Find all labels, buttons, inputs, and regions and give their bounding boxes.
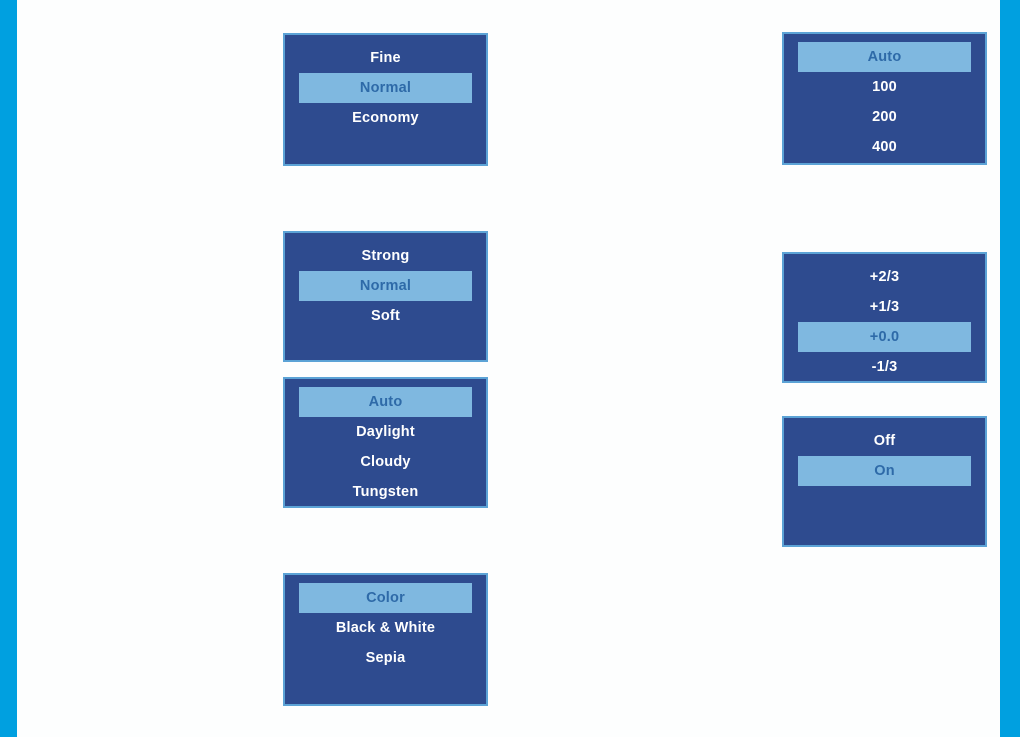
menu-option[interactable]: Off — [784, 426, 985, 456]
color-mode-menu[interactable]: ColorBlack & WhiteSepia — [283, 573, 488, 706]
menu-option-selected[interactable]: Normal — [299, 271, 472, 301]
menu-option-selected[interactable]: Normal — [299, 73, 472, 103]
menu-option[interactable]: Strong — [285, 241, 486, 271]
menu-option[interactable]: +2/3 — [784, 262, 985, 292]
menu-option[interactable]: Economy — [285, 103, 486, 133]
menu-option[interactable]: -1/3 — [784, 352, 985, 382]
menu-option[interactable]: 200 — [784, 102, 985, 132]
menu-option-selected[interactable]: On — [798, 456, 971, 486]
menu-option[interactable]: Soft — [285, 301, 486, 331]
menu-option[interactable]: +1/3 — [784, 292, 985, 322]
menu-option-selected[interactable]: Color — [299, 583, 472, 613]
menu-option[interactable]: Cloudy — [285, 447, 486, 477]
menu-option[interactable]: 400 — [784, 132, 985, 162]
menu-option[interactable]: Sepia — [285, 643, 486, 673]
menu-option-selected[interactable]: Auto — [798, 42, 971, 72]
flash-menu[interactable]: OffOn — [782, 416, 987, 547]
iso-menu[interactable]: Auto100200400 — [782, 32, 987, 165]
page-watermark — [40, 2, 135, 50]
sharpness-menu[interactable]: StrongNormalSoft — [283, 231, 488, 362]
menu-option-selected[interactable]: +0.0 — [798, 322, 971, 352]
menu-option[interactable]: Tungsten — [285, 477, 486, 507]
white-balance-menu[interactable]: AutoDaylightCloudyTungsten — [283, 377, 488, 508]
menu-option[interactable]: Black & White — [285, 613, 486, 643]
menu-option-selected[interactable]: Auto — [299, 387, 472, 417]
menu-option[interactable]: Daylight — [285, 417, 486, 447]
quality-menu[interactable]: FineNormalEconomy — [283, 33, 488, 166]
menu-option[interactable]: 100 — [784, 72, 985, 102]
exposure-compensation-menu[interactable]: +2/3+1/3+0.0-1/3 — [782, 252, 987, 383]
menu-option[interactable]: Fine — [285, 43, 486, 73]
left-accent-bar — [0, 0, 17, 737]
right-accent-bar — [1000, 0, 1020, 737]
